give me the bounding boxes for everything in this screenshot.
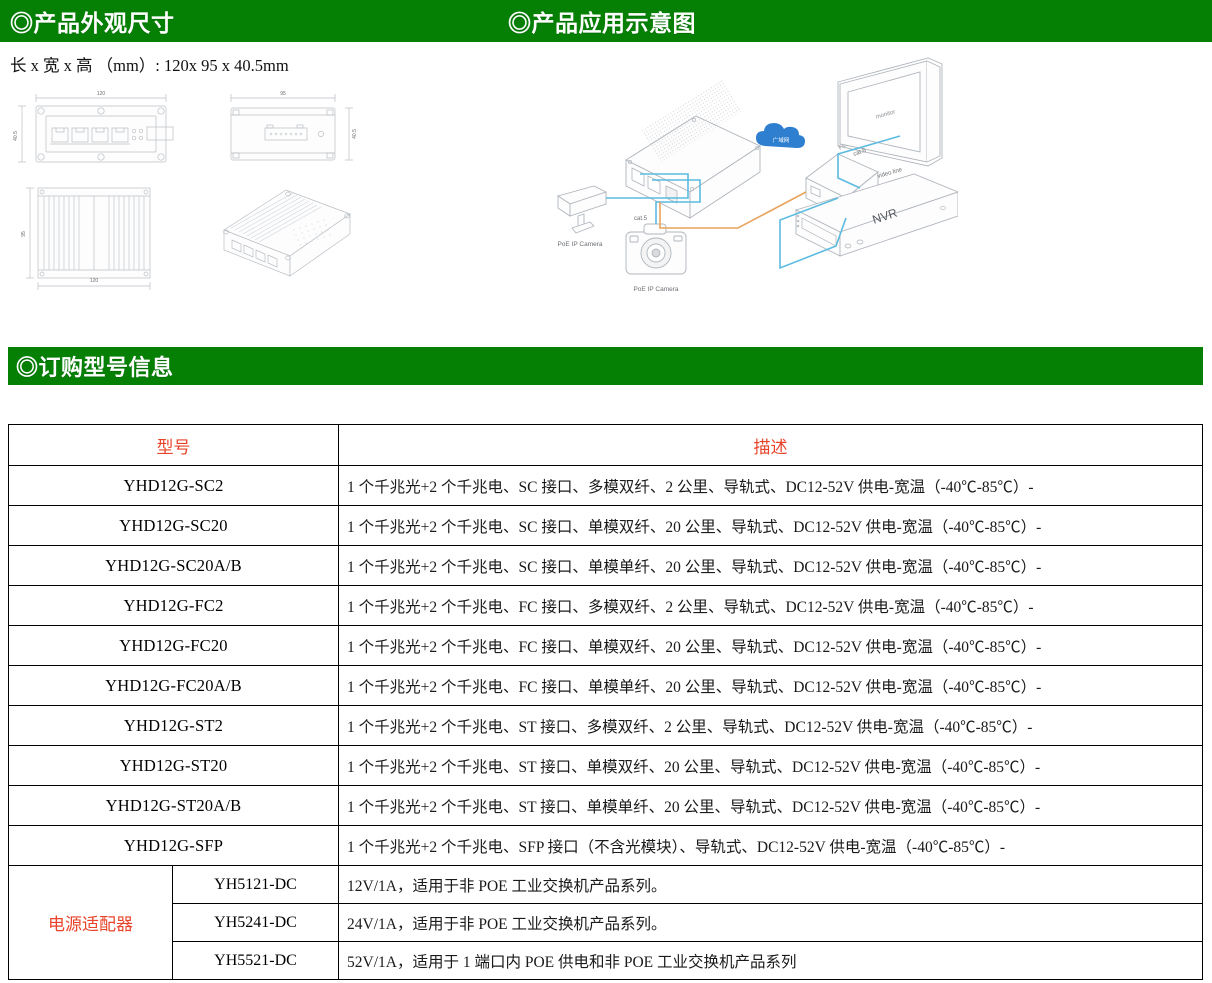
table-row: YHD12G-FC2 1 个千兆光+2 个千兆电、FC 接口、多模双纤、2 公里…: [9, 586, 1203, 626]
cell-model: YHD12G-ST20: [9, 746, 339, 786]
front-height-label: 40.5: [13, 131, 19, 141]
table-row-adapter: YH5241-DC 24V/1A，适用于非 POE 工业交换机产品系列。: [9, 904, 1203, 942]
cell-adapter-description: 24V/1A，适用于非 POE 工业交换机产品系列。: [339, 904, 1203, 942]
table-row: YHD12G-SFP 1 个千兆光+2 个千兆电、SFP 接口（不含光模块）、导…: [9, 826, 1203, 866]
cell-adapter-model: YH5121-DC: [173, 866, 339, 904]
cell-adapter-description: 12V/1A，适用于非 POE 工业交换机产品系列。: [339, 866, 1203, 904]
column-header-model: 型号: [9, 425, 339, 466]
table-row: YHD12G-ST20A/B 1 个千兆光+2 个千兆电、ST 接口、单模单纤、…: [9, 786, 1203, 826]
cell-description: 1 个千兆光+2 个千兆电、ST 接口、单模双纤、20 公里、导轨式、DC12-…: [339, 746, 1203, 786]
camera-label-1: PoE IP Camera: [557, 241, 602, 248]
wan-cloud: 广域网: [756, 123, 805, 148]
table-row: YHD12G-FC20A/B 1 个千兆光+2 个千兆电、FC 接口、单模单纤、…: [9, 666, 1203, 706]
table-row: YHD12G-SC20 1 个千兆光+2 个千兆电、SC 接口、单模双纤、20 …: [9, 506, 1203, 546]
column-header-description: 描述: [339, 425, 1203, 466]
drawing-top-view: 95 120: [8, 178, 168, 296]
top-depth-label: 95: [21, 231, 27, 237]
front-width-label: 120: [97, 91, 106, 97]
table-row: YHD12G-ST2 1 个千兆光+2 个千兆电、ST 接口、多模双纤、2 公里…: [9, 706, 1203, 746]
table-row: YHD12G-ST20 1 个千兆光+2 个千兆电、ST 接口、单模双纤、20 …: [9, 746, 1203, 786]
cell-model: YHD12G-ST2: [9, 706, 339, 746]
cell-description: 1 个千兆光+2 个千兆电、FC 接口、单模双纤、20 公里、导轨式、DC12-…: [339, 626, 1203, 666]
cell-description: 1 个千兆光+2 个千兆电、SFP 接口（不含光模块）、导轨式、DC12-52V…: [339, 826, 1203, 866]
poe-ip-camera-dome: [626, 224, 686, 274]
cell-model: YHD12G-FC2: [9, 586, 339, 626]
side-height-label: 40.5: [352, 129, 358, 139]
cell-description: 1 个千兆光+2 个千兆电、FC 接口、多模双纤、2 公里、导轨式、DC12-5…: [339, 586, 1203, 626]
table-row: YHD12G-FC20 1 个千兆光+2 个千兆电、FC 接口、单模双纤、20 …: [9, 626, 1203, 666]
cell-adapter-description: 52V/1A，适用于 1 端口内 POE 供电和非 POE 工业交换机产品系列: [339, 942, 1203, 980]
cell-model: YHD12G-SC20: [9, 506, 339, 546]
cell-description: 1 个千兆光+2 个千兆电、ST 接口、单模单纤、20 公里、导轨式、DC12-…: [339, 786, 1203, 826]
order-info-section-bar: ◎订购型号信息: [8, 347, 1203, 385]
table-row-adapter: 电源适配器 YH5121-DC 12V/1A，适用于非 POE 工业交换机产品系…: [9, 866, 1203, 904]
camera-label-2: PoE IP Camera: [633, 286, 678, 293]
cell-adapter-model: YH5521-DC: [173, 942, 339, 980]
cell-description: 1 个千兆光+2 个千兆电、FC 接口、单模单纤、20 公里、导轨式、DC12-…: [339, 666, 1203, 706]
side-width-label: 95: [280, 91, 286, 97]
product-spec-page: ◎产品外观尺寸 ◎产品应用示意图 长 x 宽 x 高 （mm）: 120x 95…: [0, 0, 1212, 983]
cell-adapter-group-label: 电源适配器: [9, 866, 173, 980]
application-diagram: 广域网 Fiber media converter monitor: [548, 50, 958, 305]
table-row-adapter: YH5521-DC 52V/1A，适用于 1 端口内 POE 供电和非 POE …: [9, 942, 1203, 980]
cell-adapter-model: YH5241-DC: [173, 904, 339, 942]
table-row: YHD12G-SC2 1 个千兆光+2 个千兆电、SC 接口、多模双纤、2 公里…: [9, 466, 1203, 506]
cell-model: YHD12G-ST20A/B: [9, 786, 339, 826]
table-header-row: 型号 描述: [9, 425, 1203, 466]
top-width-label: 120: [90, 278, 99, 284]
cell-model: YHD12G-FC20: [9, 626, 339, 666]
cell-model: YHD12G-SC20A/B: [9, 546, 339, 586]
drawing-side-view: 95 40.5: [213, 84, 363, 176]
cell-model: YHD12G-SFP: [9, 826, 339, 866]
order-model-table: 型号 描述 YHD12G-SC2 1 个千兆光+2 个千兆电、SC 接口、多模双…: [8, 424, 1203, 980]
cell-description: 1 个千兆光+2 个千兆电、SC 接口、单模双纤、20 公里、导轨式、DC12-…: [339, 506, 1203, 546]
dimension-text: 长 x 宽 x 高 （mm）: 120x 95 x 40.5mm: [10, 52, 289, 76]
cell-model: YHD12G-SC2: [9, 466, 339, 506]
cable-label-cat5-a: cat.5: [634, 216, 648, 222]
poe-ip-camera-bullet: [558, 186, 606, 233]
drawing-front-view: 120 40.5: [8, 84, 188, 176]
table-row: YHD12G-SC20A/B 1 个千兆光+2 个千兆电、SC 接口、单模单纤、…: [9, 546, 1203, 586]
wan-cloud-label: 广域网: [773, 136, 790, 144]
drawing-isometric-view: [190, 178, 370, 296]
cell-description: 1 个千兆光+2 个千兆电、SC 接口、多模双纤、2 公里、导轨式、DC12-5…: [339, 466, 1203, 506]
cell-description: 1 个千兆光+2 个千兆电、SC 接口、单模单纤、20 公里、导轨式、DC12-…: [339, 546, 1203, 586]
heading-order-info: ◎订购型号信息: [16, 347, 174, 385]
cell-description: 1 个千兆光+2 个千兆电、ST 接口、多模双纤、2 公里、导轨式、DC12-5…: [339, 706, 1203, 746]
heading-product-application: ◎产品应用示意图: [508, 0, 696, 42]
cell-model: YHD12G-FC20A/B: [9, 666, 339, 706]
heading-product-dimensions: ◎产品外观尺寸: [10, 0, 175, 42]
